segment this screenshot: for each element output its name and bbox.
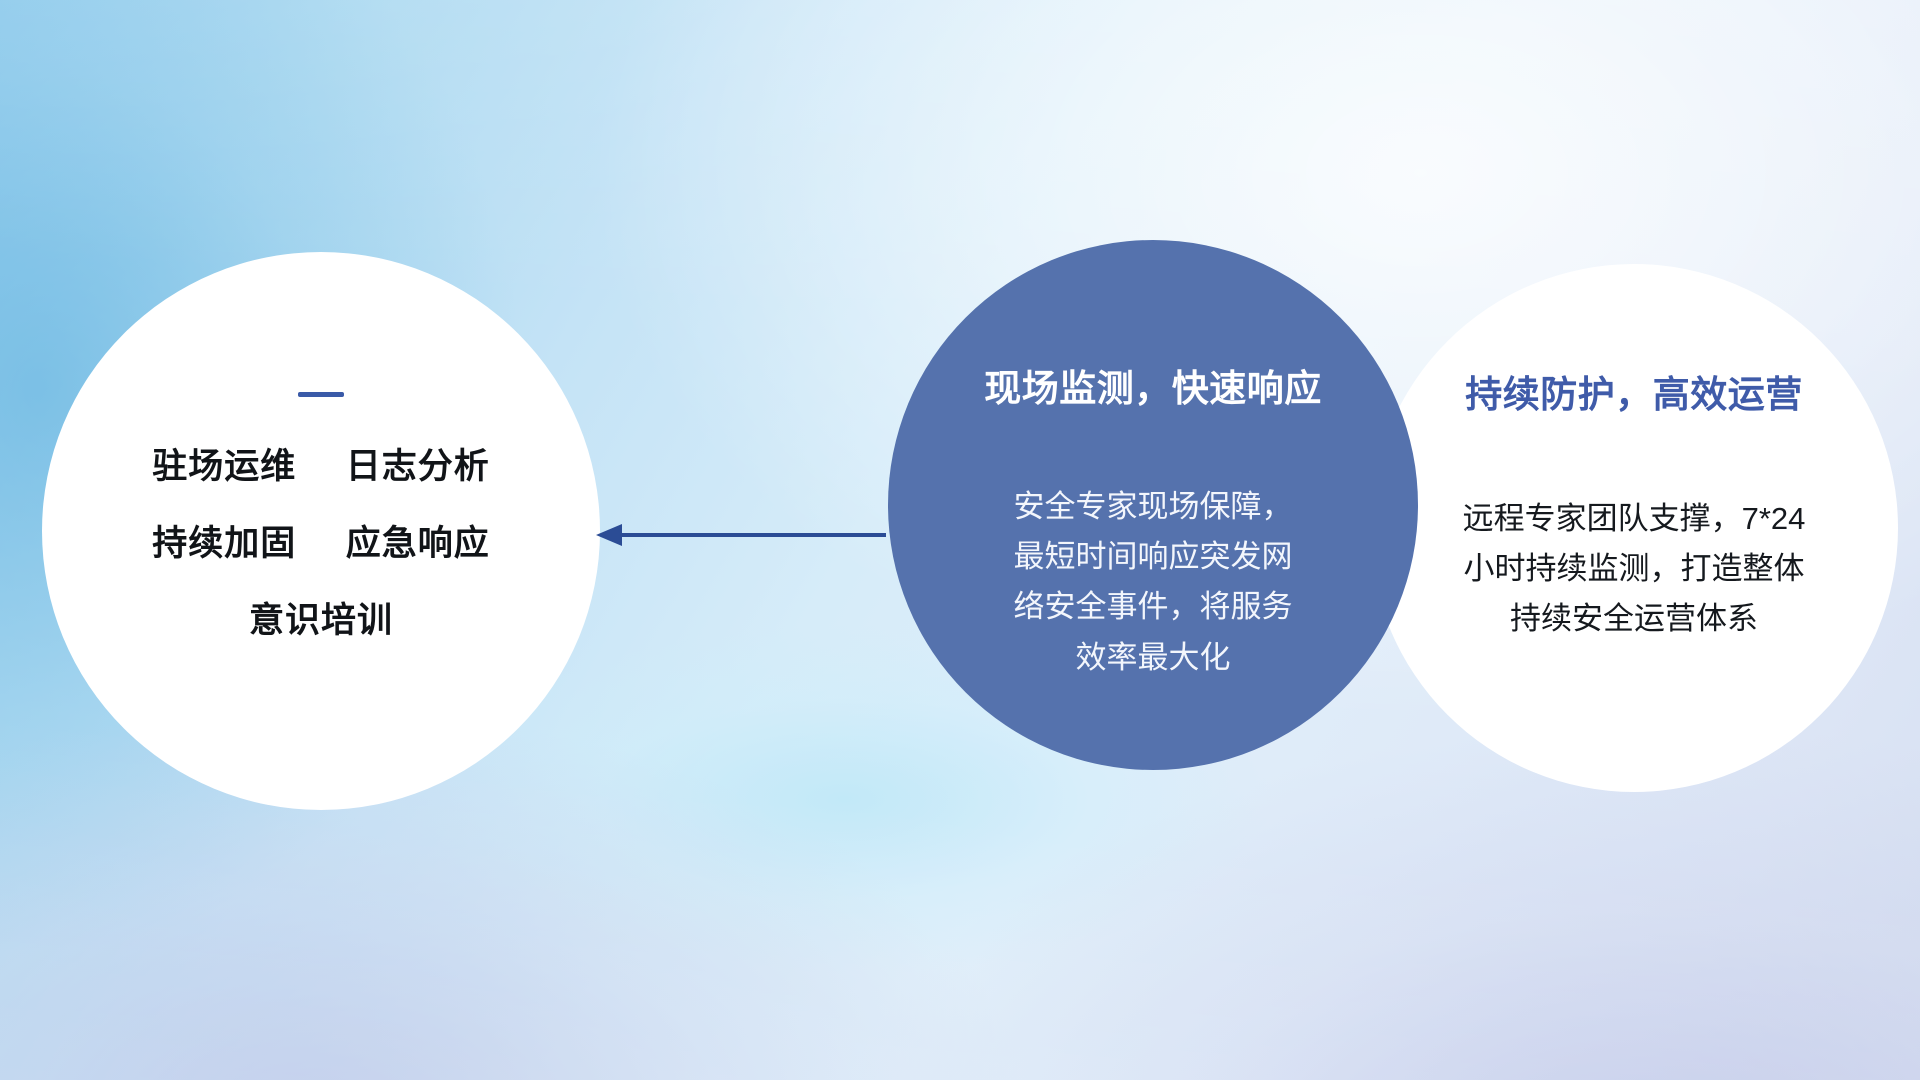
continuous-operations-description: 远程专家团队支撑，7*24 小时持续监测，打造整体 持续安全运营体系 (1424, 494, 1844, 645)
continuous-operations-circle[interactable]: 持续防护，高效运营 远程专家团队支撑，7*24 小时持续监测，打造整体 持续安全… (1370, 264, 1898, 792)
slide-canvas: 驻场运维 日志分析 持续加固 应急响应 意识培训 持续防护，高效运营 远程专家团… (0, 0, 1920, 1080)
capabilities-circle[interactable]: 驻场运维 日志分析 持续加固 应急响应 意识培训 (42, 252, 600, 810)
arrow-left-icon (596, 518, 886, 552)
onsite-monitoring-content: 现场监测，快速响应 安全专家现场保障， 最短时间响应突发网 络安全事件，将服务 … (922, 358, 1384, 683)
description-line: 远程专家团队支撑，7*24 (1424, 494, 1844, 544)
description-line: 络安全事件，将服务 (973, 582, 1333, 632)
capability-row: 意识培训 (42, 603, 600, 638)
description-line: 最短时间响应突发网 (973, 532, 1333, 582)
description-line: 安全专家现场保障， (973, 482, 1333, 532)
capability-label-emergency-response: 应急响应 (346, 524, 490, 563)
description-line: 效率最大化 (973, 633, 1333, 683)
capability-label-continuous-hardening: 持续加固 (152, 524, 296, 563)
horizontal-rule-icon (298, 392, 344, 397)
onsite-monitoring-circle[interactable]: 现场监测，快速响应 安全专家现场保障， 最短时间响应突发网 络安全事件，将服务 … (888, 240, 1418, 770)
capability-row: 驻场运维 日志分析 (42, 449, 600, 484)
continuous-operations-content: 持续防护，高效运营 远程专家团队支撑，7*24 小时持续监测，打造整体 持续安全… (1400, 364, 1868, 645)
onsite-monitoring-description: 安全专家现场保障， 最短时间响应突发网 络安全事件，将服务 效率最大化 (973, 482, 1333, 683)
capability-label-onsite-ops: 驻场运维 (152, 447, 296, 486)
arrow-left-glyph (596, 518, 886, 552)
capability-row: 持续加固 应急响应 (42, 526, 600, 561)
capability-label-log-analysis: 日志分析 (346, 447, 490, 486)
capabilities-content: 驻场运维 日志分析 持续加固 应急响应 意识培训 (42, 392, 600, 638)
continuous-operations-heading: 持续防护，高效运营 (1400, 364, 1868, 418)
description-line: 持续安全运营体系 (1424, 594, 1844, 644)
description-line: 小时持续监测，打造整体 (1424, 544, 1844, 594)
capability-label-awareness-training: 意识培训 (249, 601, 393, 640)
onsite-monitoring-heading: 现场监测，快速响应 (922, 358, 1384, 412)
